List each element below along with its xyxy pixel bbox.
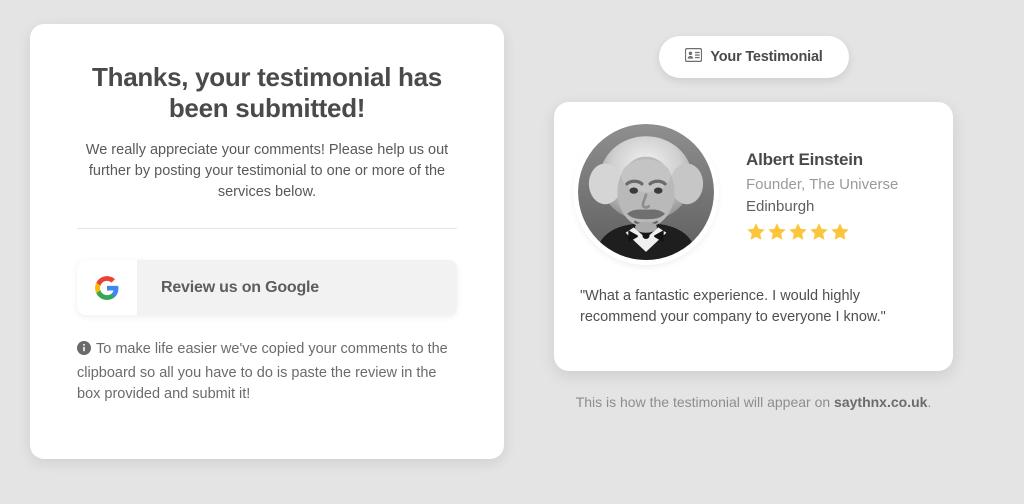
clipboard-info-text: To make life easier we've copied your co… — [77, 341, 448, 402]
review-us-on-google-button[interactable]: Review us on Google — [77, 260, 457, 315]
testimonial-quote: "What a fantastic experience. I would hi… — [554, 260, 953, 328]
author-role: Founder, The Universe — [746, 176, 898, 193]
star-icon — [809, 222, 829, 242]
disclaimer-prefix: This is how the testimonial will appear … — [576, 394, 830, 410]
avatar-portrait-icon — [578, 124, 714, 260]
review-button-label: Review us on Google — [137, 260, 457, 315]
star-icon — [767, 222, 787, 242]
star-icon — [830, 222, 850, 242]
preview-disclaimer: This is how the testimonial will appear … — [554, 392, 953, 412]
page-title: Thanks, your testimonial has been submit… — [77, 62, 457, 124]
confirmation-subtext: We really appreciate your comments! Plea… — [77, 140, 457, 203]
badge-label: Your Testimonial — [710, 49, 822, 65]
disclaimer-suffix: . — [927, 394, 931, 410]
clipboard-info-note: To make life easier we've copied your co… — [77, 339, 457, 406]
section-divider — [77, 228, 457, 229]
google-logo-icon — [77, 260, 137, 315]
star-icon — [788, 222, 808, 242]
rating-stars — [746, 222, 898, 242]
testimonial-author-info: Albert Einstein Founder, The Universe Ed… — [714, 124, 898, 242]
submission-confirmation-card: Thanks, your testimonial has been submit… — [30, 24, 504, 459]
author-name: Albert Einstein — [746, 150, 898, 170]
id-card-icon — [685, 48, 702, 67]
testimonial-header: Albert Einstein Founder, The Universe Ed… — [554, 102, 953, 260]
info-circle-icon — [77, 341, 91, 363]
author-location: Edinburgh — [746, 198, 898, 215]
star-icon — [746, 222, 766, 242]
testimonial-preview-card: Albert Einstein Founder, The Universe Ed… — [554, 102, 953, 371]
avatar — [578, 124, 714, 260]
disclaimer-domain: saythnx.co.uk — [834, 394, 927, 410]
page-root: Thanks, your testimonial has been submit… — [0, 0, 1024, 504]
your-testimonial-badge: Your Testimonial — [659, 36, 849, 78]
